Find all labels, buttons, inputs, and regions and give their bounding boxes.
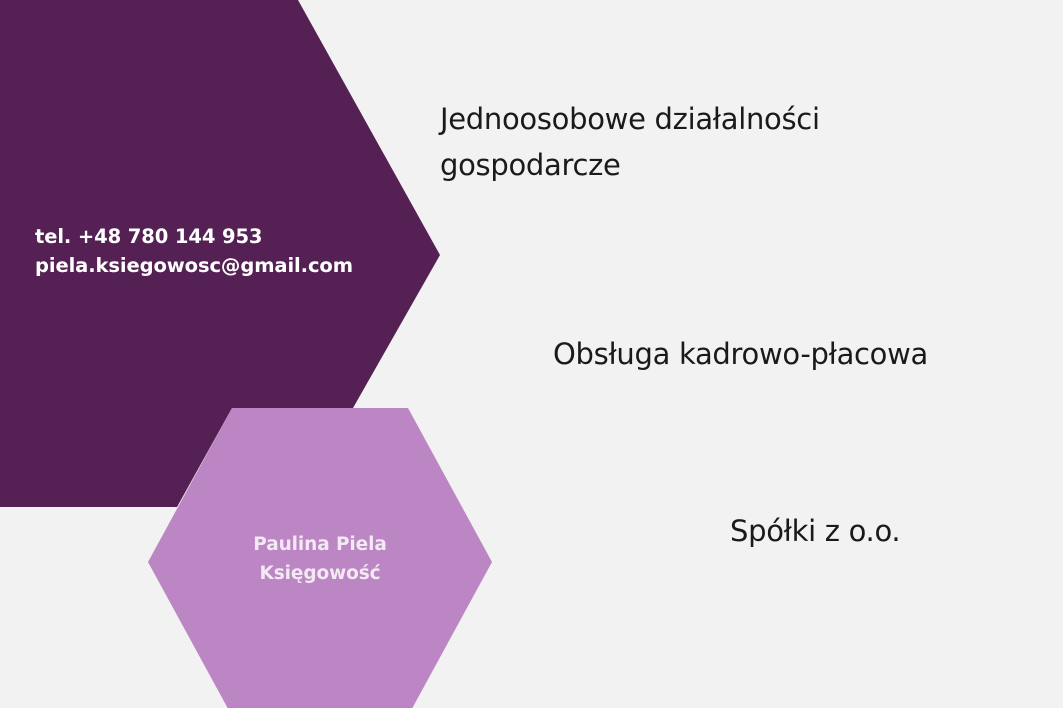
contact-phone[interactable]: tel. +48 780 144 953 bbox=[35, 222, 395, 251]
contact-email[interactable]: piela.ksiegowosc@gmail.com bbox=[35, 251, 395, 280]
contact-info: tel. +48 780 144 953 piela.ksiegowosc@gm… bbox=[35, 222, 395, 280]
business-card-canvas: tel. +48 780 144 953 piela.ksiegowosc@gm… bbox=[0, 0, 1063, 708]
brand-nameplate: Paulina Piela Księgowość bbox=[148, 530, 492, 588]
brand-role: Księgowość bbox=[148, 559, 492, 588]
service-item-2: Obsługa kadrowo-płacowa bbox=[553, 331, 1023, 377]
brand-name: Paulina Piela bbox=[148, 530, 492, 559]
service-item-1: Jednoosobowe działalności gospodarcze bbox=[440, 96, 960, 188]
service-item-3: Spółki z o.o. bbox=[730, 508, 1060, 554]
